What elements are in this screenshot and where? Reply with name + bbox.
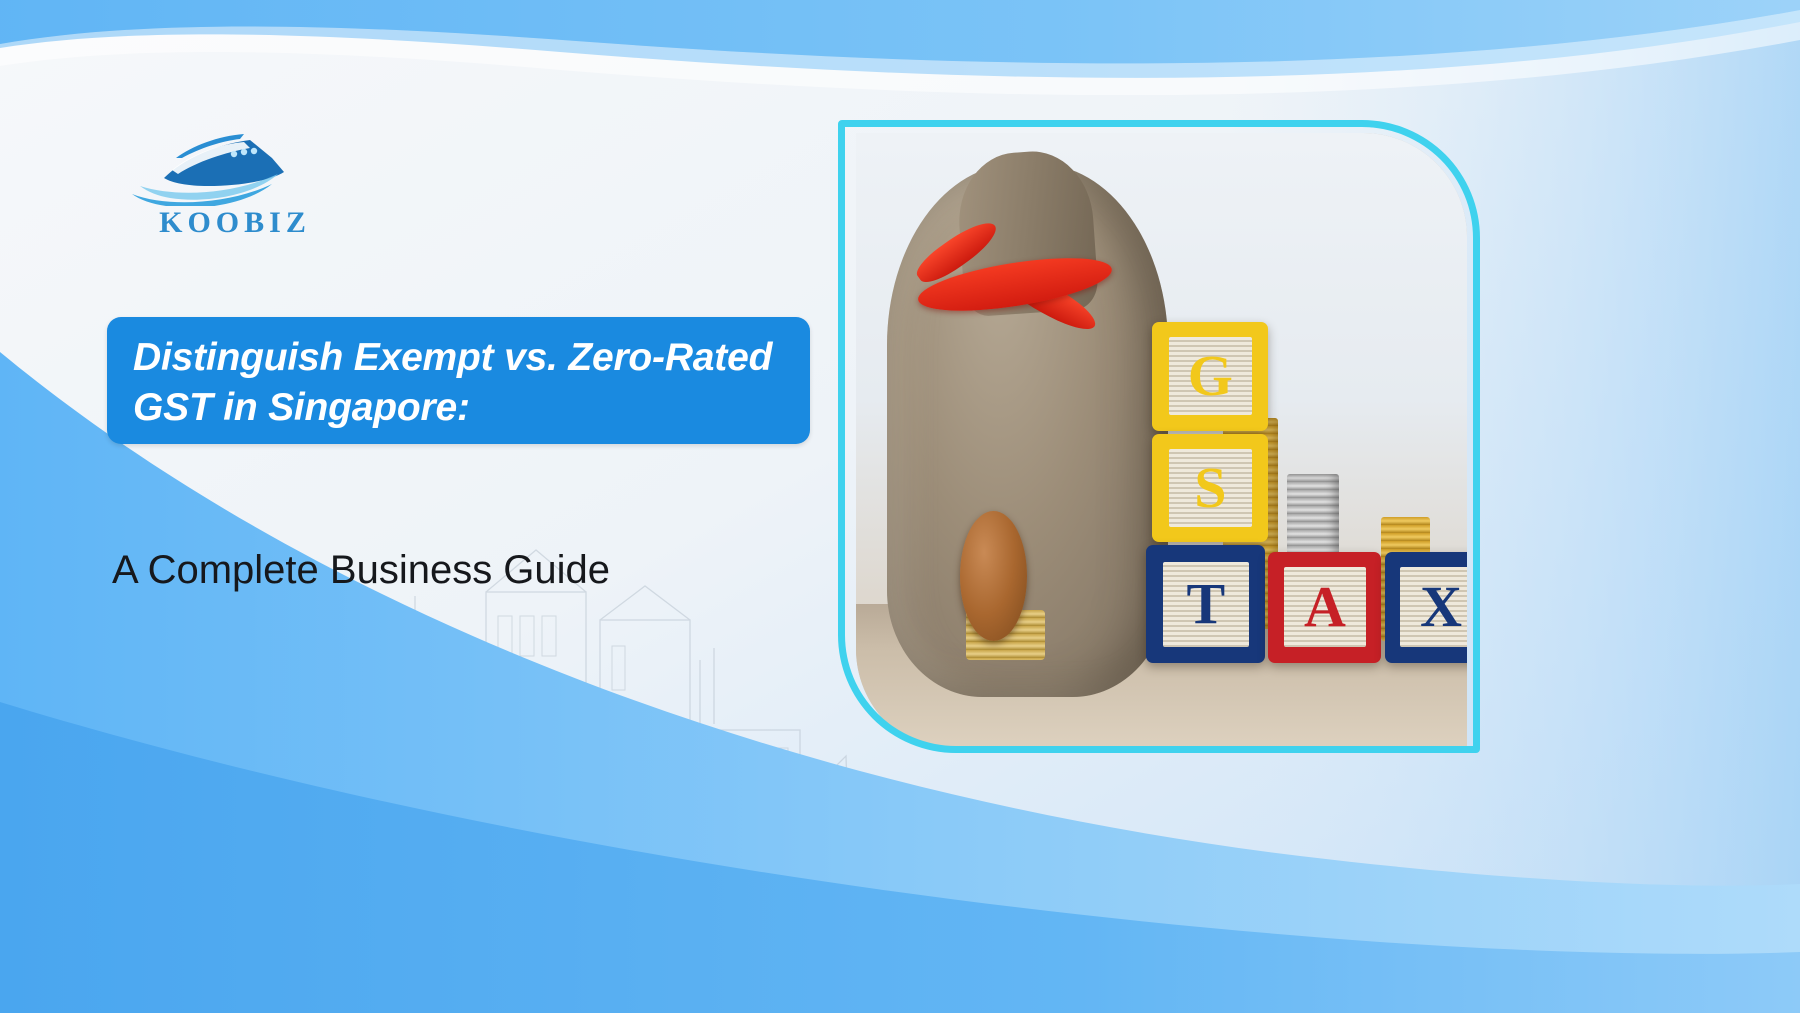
subtitle-text: A Complete Business Guide <box>112 545 610 595</box>
headline-line-1: Distinguish Exempt vs. Zero-Rated <box>133 333 784 383</box>
headline-line-2: GST in Singapore: <box>133 383 784 433</box>
headline-banner: Distinguish Exempt vs. Zero-Rated GST in… <box>107 317 810 444</box>
banner-canvas: KOOBIZ Distinguish Exempt vs. Zero-Rated… <box>0 0 1800 1013</box>
brand-logo[interactable]: KOOBIZ <box>112 128 372 243</box>
brand-name: KOOBIZ <box>120 206 350 240</box>
hero-photo-card: G S T A <box>838 120 1480 753</box>
photo-frame-border <box>838 120 1480 753</box>
skyline-outline <box>138 550 936 954</box>
cruise-ship-wave-icon <box>122 128 302 206</box>
